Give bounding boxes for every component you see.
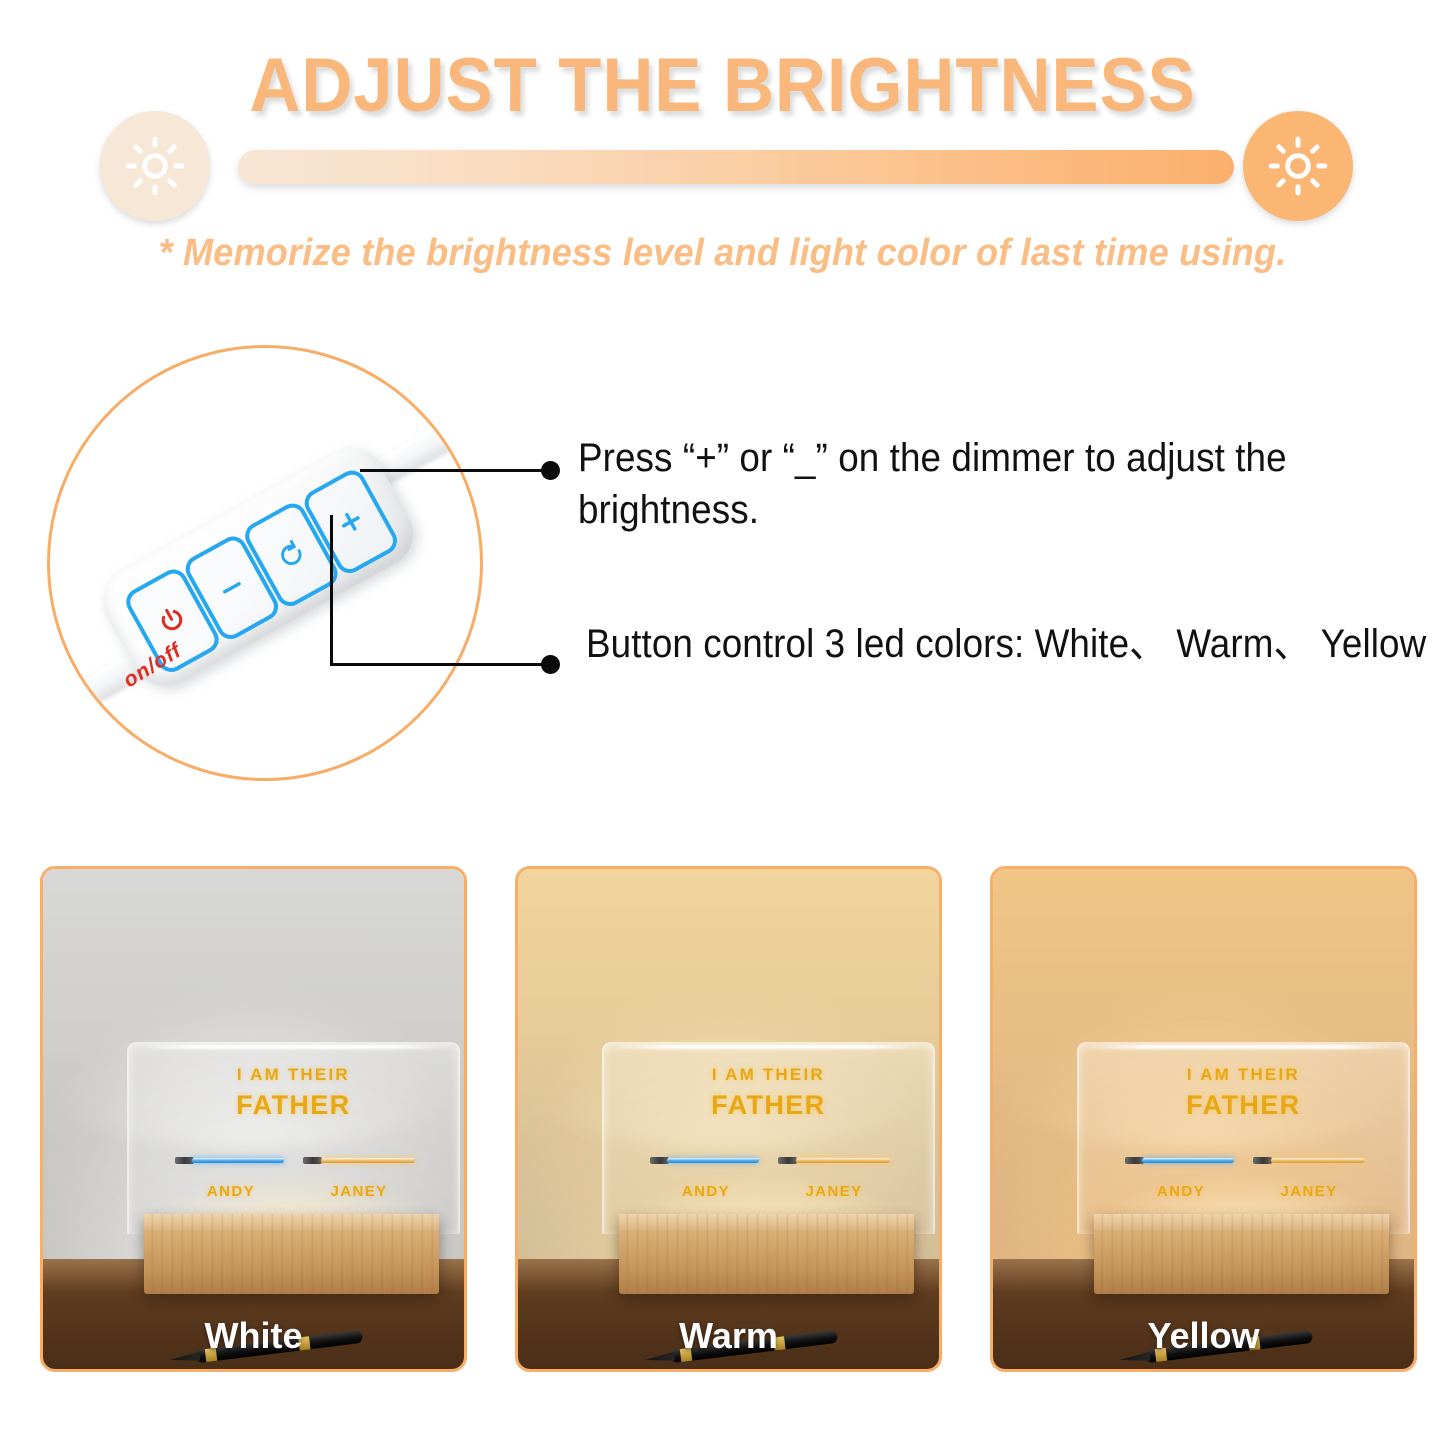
plaque-line-1: I AM THEIR (604, 1065, 932, 1085)
base-wood-grain (144, 1214, 439, 1294)
memory-note: * Memorize the brightness level and ligh… (36, 232, 1409, 275)
wooden-base (619, 1214, 914, 1294)
base-wood-grain (1094, 1214, 1389, 1294)
saber-hilt (175, 1157, 193, 1164)
lightsaber-amber (303, 1158, 415, 1163)
saber-blade (1142, 1158, 1233, 1163)
lightsaber-blue (1125, 1158, 1233, 1163)
callout-line-1 (360, 469, 550, 472)
callout-dot-2 (541, 655, 560, 674)
color-card-white[interactable]: I AM THEIR FATHER ANDY JANEY (40, 866, 467, 1372)
saber-blade (321, 1158, 415, 1163)
dimmer-body: on/off (91, 437, 425, 698)
acrylic-plaque: I AM THEIR FATHER ANDY JANEY (602, 1042, 934, 1234)
page-title: ADJUST THE BRIGHTNESS (51, 42, 1395, 129)
saber-hilt (650, 1157, 668, 1164)
plaque-line-2: FATHER (129, 1090, 457, 1121)
color-gallery: I AM THEIR FATHER ANDY JANEY (0, 866, 1445, 1368)
engraved-name-1: ANDY (650, 1183, 762, 1200)
acrylic-plaque: I AM THEIR FATHER ANDY JANEY (1077, 1042, 1409, 1234)
plaque-top-edge (614, 1045, 923, 1049)
header-section: ADJUST THE BRIGHTNESS * Memorize the bri… (0, 0, 1445, 300)
callout-dot-1 (541, 461, 560, 480)
wooden-base (1094, 1214, 1389, 1294)
callout-line-2-vertical (330, 515, 333, 665)
plaque-line-2: FATHER (1079, 1090, 1407, 1121)
engraved-name-1: ANDY (1125, 1183, 1237, 1200)
dimmer-section: on/off Press “+” or “_” on the dimmer to… (0, 300, 1445, 860)
callout-text-brightness: Press “+” or “_” on the dimmer to adjust… (578, 432, 1445, 536)
lightsaber-amber (1253, 1158, 1365, 1163)
sun-dim-icon (100, 111, 210, 221)
plaque-line-2: FATHER (604, 1090, 932, 1121)
engraved-name-1: ANDY (175, 1183, 287, 1200)
product-photo: I AM THEIR FATHER ANDY JANEY (993, 869, 1414, 1369)
saber-blade (796, 1158, 890, 1163)
lightsaber-amber (778, 1158, 890, 1163)
engraved-name-2: JANEY (303, 1183, 415, 1200)
callout-text-led-colors: Button control 3 led colors: White、 Warm… (586, 618, 1445, 670)
lightsaber-blue (175, 1158, 283, 1163)
dimmer-button-row (119, 457, 408, 673)
color-card-yellow[interactable]: I AM THEIR FATHER ANDY JANEY (990, 866, 1417, 1372)
acrylic-plaque: I AM THEIR FATHER ANDY JANEY (127, 1042, 459, 1234)
plaque-top-edge (139, 1045, 448, 1049)
saber-blade (1271, 1158, 1365, 1163)
product-photo: I AM THEIR FATHER ANDY JANEY (518, 869, 939, 1369)
card-label: Warm (518, 1315, 939, 1357)
saber-blade (192, 1158, 283, 1163)
engraved-name-2: JANEY (778, 1183, 890, 1200)
wooden-base (144, 1214, 439, 1294)
engraved-name-2: JANEY (1253, 1183, 1365, 1200)
brightness-slider[interactable] (238, 150, 1234, 184)
saber-hilt (1125, 1157, 1143, 1164)
saber-hilt (303, 1157, 322, 1164)
saber-hilt (778, 1157, 797, 1164)
plaque-line-1: I AM THEIR (1079, 1065, 1407, 1085)
card-label: White (43, 1315, 464, 1357)
product-photo: I AM THEIR FATHER ANDY JANEY (43, 869, 464, 1369)
plaque-top-edge (1089, 1045, 1398, 1049)
saber-hilt (1253, 1157, 1272, 1164)
base-wood-grain (619, 1214, 914, 1294)
callout-line-2-horizontal (330, 663, 552, 666)
sun-bright-icon (1243, 111, 1353, 221)
lightsaber-blue (650, 1158, 758, 1163)
plaque-line-1: I AM THEIR (129, 1065, 457, 1085)
dimmer-photo-circle: on/off (47, 345, 483, 781)
saber-blade (667, 1158, 758, 1163)
card-label: Yellow (993, 1315, 1414, 1357)
color-card-warm[interactable]: I AM THEIR FATHER ANDY JANEY (515, 866, 942, 1372)
